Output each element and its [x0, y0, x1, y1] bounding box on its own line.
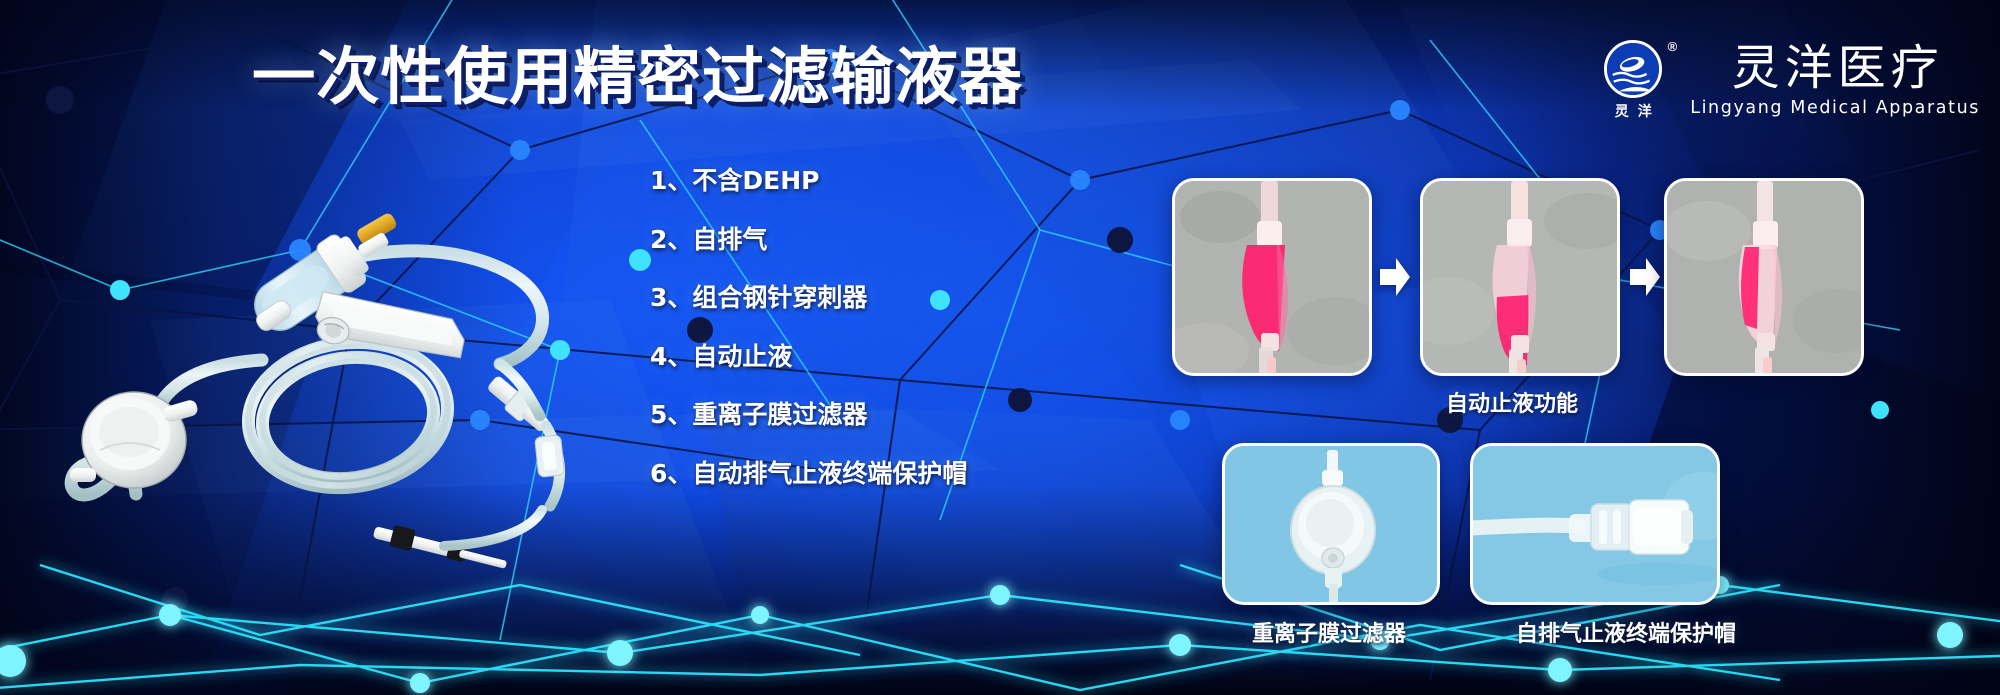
product-banner: 一次性使用精密过滤输液器 — [0, 0, 2000, 695]
filter-disc — [70, 392, 199, 488]
feature-list: 1、不含DEHP 2、自排气 3、组合钢针穿刺器 4、自动止液 5、重离子膜过滤… — [650, 168, 1030, 486]
feature-item-4: 4、自动止液 — [650, 344, 1030, 369]
logo-mark-subtext: 灵洋 — [1606, 101, 1661, 121]
feature-item-1: 1、不含DEHP — [650, 168, 1030, 193]
self-venting-terminal-cap-photo — [1470, 443, 1720, 605]
feature-item-6: 6、自动排气止液终端保护帽 — [650, 461, 1030, 486]
auto-stop-sequence-caption: 自动止液功能 — [1446, 394, 1578, 416]
feature-item-3: 3、组合钢针穿刺器 — [650, 285, 1030, 310]
logo-mark: ® 灵洋 — [1592, 40, 1674, 122]
feature-item-2: 2、自排气 — [650, 227, 1030, 252]
auto-stop-step-2-photo — [1420, 178, 1620, 376]
heavy-ion-membrane-filter-photo — [1222, 443, 1440, 605]
auto-stop-step-3-photo — [1664, 178, 1864, 376]
lingyang-circular-emblem-icon — [1604, 40, 1662, 98]
banner-title: 一次性使用精密过滤输液器 — [252, 46, 1023, 108]
company-name-cn: 灵洋医疗 — [1727, 44, 1944, 94]
arrow-right-icon-1 — [1378, 255, 1412, 299]
arrow-right-icon-2 — [1628, 255, 1662, 299]
logo-wordmark: 灵洋医疗 Lingyang Medical Apparatus — [1690, 44, 1980, 118]
auto-stop-step-1-photo — [1172, 178, 1372, 376]
heavy-ion-membrane-filter-caption: 重离子膜过滤器 — [1252, 624, 1406, 646]
brand-logo: ® 灵洋 灵洋医疗 Lingyang Medical Apparatus — [1592, 40, 1980, 122]
self-venting-terminal-cap-caption: 自排气止液终端保护帽 — [1516, 624, 1736, 646]
infusion-set-product-photo — [30, 150, 690, 570]
feature-item-5: 5、重离子膜过滤器 — [650, 402, 1030, 427]
registered-trademark-icon: ® — [1668, 39, 1678, 54]
company-name-en: Lingyang Medical Apparatus — [1690, 98, 1980, 118]
